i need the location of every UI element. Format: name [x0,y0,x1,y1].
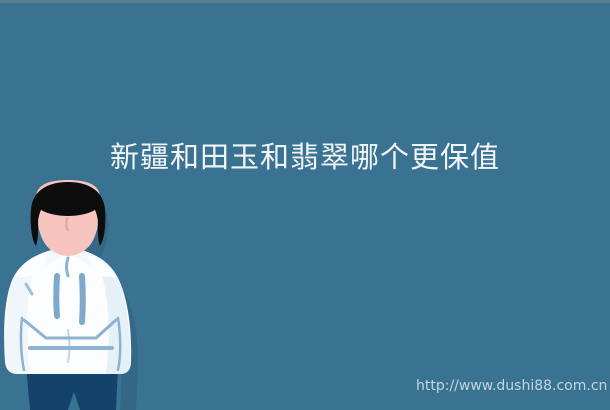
page-title: 新疆和田玉和翡翠哪个更保值 [0,140,610,174]
top-edge-band [0,0,610,3]
hoodie [4,246,131,374]
person-illustration [0,180,150,410]
watermark-url: http://www.dushi88.com.cn [416,378,607,395]
image-canvas: 新疆和田玉和翡翠哪个更保值 http://www.dushi88.com.cn [0,0,610,410]
